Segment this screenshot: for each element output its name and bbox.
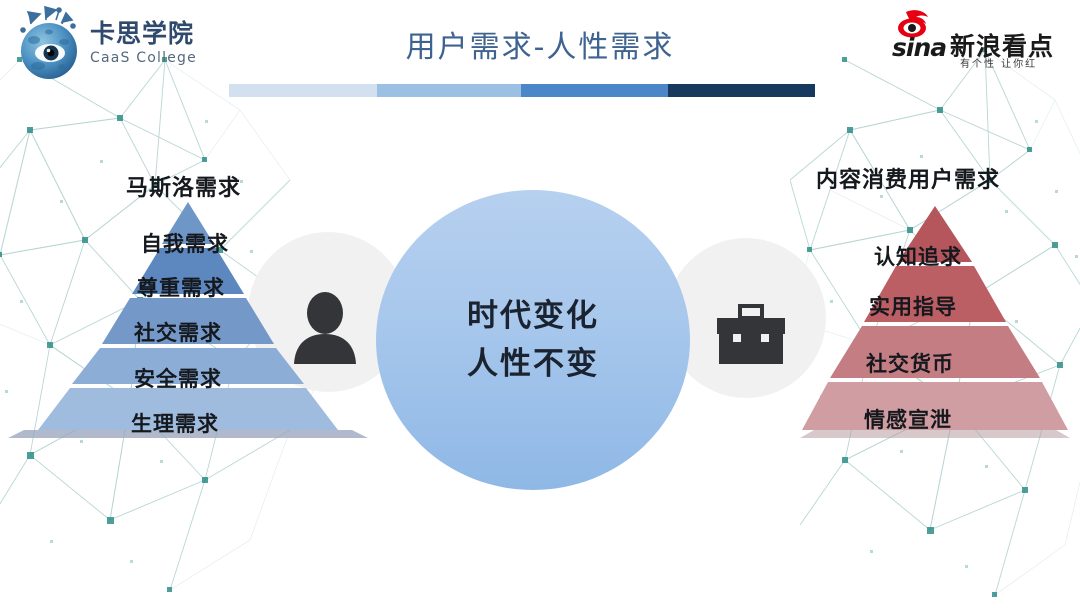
center-message-circle: 时代变化 人性不变 <box>376 190 690 490</box>
person-silhouette-icon <box>292 290 358 364</box>
accent-bar-segment-1 <box>229 84 377 97</box>
left-level-label-4: 安全需求 <box>134 363 222 393</box>
briefcase-icon <box>713 304 789 366</box>
svg-text:sina: sina <box>892 33 946 62</box>
slide-canvas: 卡思学院 CaaS College 用户需求-人性需求 sina 新浪看点 有个… <box>0 0 1080 608</box>
slide-header: 卡思学院 CaaS College 用户需求-人性需求 sina 新浪看点 有个… <box>0 0 1080 104</box>
accent-bar-segment-2 <box>377 84 521 97</box>
left-level-label-3: 社交需求 <box>134 317 222 347</box>
svg-text:有个性 让你红: 有个性 让你红 <box>960 57 1037 70</box>
center-message-line-1: 时代变化 <box>467 292 599 340</box>
left-pyramid-heading: 马斯洛需求 <box>126 170 241 202</box>
title-accent-bar <box>229 84 815 97</box>
sina-kandian-logo: sina 新浪看点 有个性 让你红 <box>888 8 1072 70</box>
left-level-label-1: 自我需求 <box>141 228 229 258</box>
center-message-line-2: 人性不变 <box>467 340 599 388</box>
svg-text:新浪看点: 新浪看点 <box>950 32 1054 61</box>
right-level-label-3: 社交货币 <box>866 348 954 378</box>
right-level-label-1: 认知追求 <box>874 241 962 271</box>
accent-bar-segment-3 <box>521 84 668 97</box>
right-level-label-2: 实用指导 <box>869 291 957 321</box>
accent-bar-segment-4 <box>668 84 815 97</box>
left-level-label-5: 生理需求 <box>131 408 219 438</box>
right-pyramid-heading: 内容消费用户需求 <box>816 162 1000 194</box>
right-level-label-4: 情感宣泄 <box>864 404 952 434</box>
left-level-label-2: 尊重需求 <box>137 272 225 302</box>
